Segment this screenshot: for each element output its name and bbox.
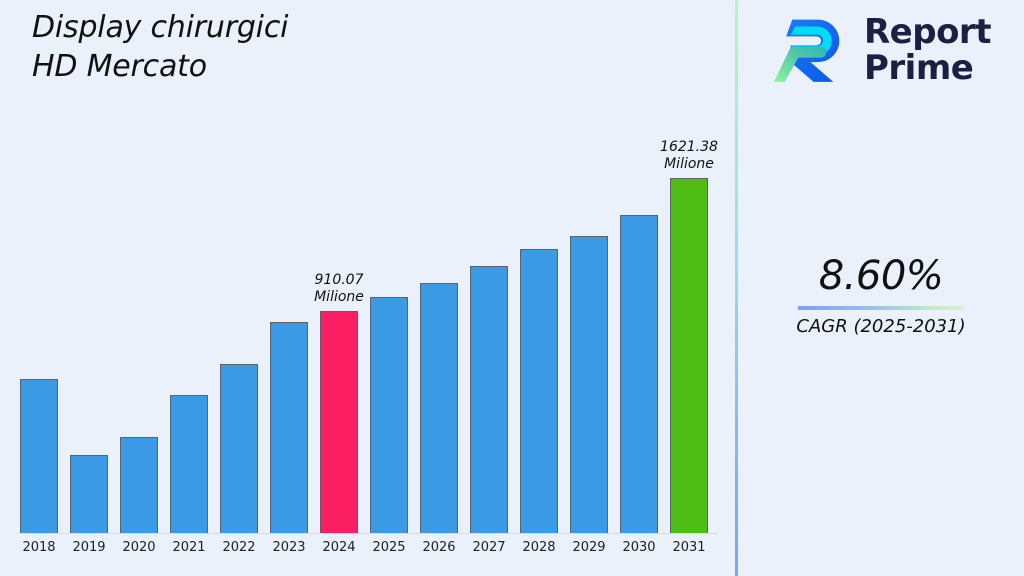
cagr-divider xyxy=(798,306,964,310)
bar-2029 xyxy=(570,236,608,533)
bar-2028 xyxy=(520,249,558,533)
bar-2026 xyxy=(420,283,458,533)
cagr-value: 8.60% xyxy=(738,252,1024,300)
bar-2021 xyxy=(170,395,208,533)
bar-2027 xyxy=(470,266,508,533)
value-label-2024: 910.07 Milione xyxy=(284,272,394,306)
bar-2018 xyxy=(20,379,58,533)
bar-2024 xyxy=(320,311,358,533)
chart-screenshot: Display chirurgici HD Mercato 2018201920… xyxy=(0,0,1024,576)
bar-2020 xyxy=(120,437,158,533)
report-prime-r-logo-icon xyxy=(774,12,850,88)
brand-logo: Report Prime xyxy=(774,12,991,88)
right-panel: Report Prime 8.60% CAGR (2025-2031) xyxy=(738,0,1024,576)
bar-2022 xyxy=(220,364,258,533)
bar-2023 xyxy=(270,322,308,533)
x-tick-2031: 2031 xyxy=(659,540,719,555)
chart-plot-area: 2018201920202021202220232024202520262027… xyxy=(0,0,736,576)
value-label-2031: 1621.38 Milione xyxy=(634,139,744,173)
cagr-block: 8.60% CAGR (2025-2031) xyxy=(738,252,1024,339)
x-axis-line xyxy=(18,533,718,534)
bar-2019 xyxy=(70,455,108,533)
bar-2031 xyxy=(670,178,708,533)
bar-2025 xyxy=(370,297,408,533)
cagr-caption: CAGR (2025-2031) xyxy=(738,315,1024,339)
brand-wordmark: Report Prime xyxy=(864,14,991,86)
bar-2030 xyxy=(620,215,658,533)
